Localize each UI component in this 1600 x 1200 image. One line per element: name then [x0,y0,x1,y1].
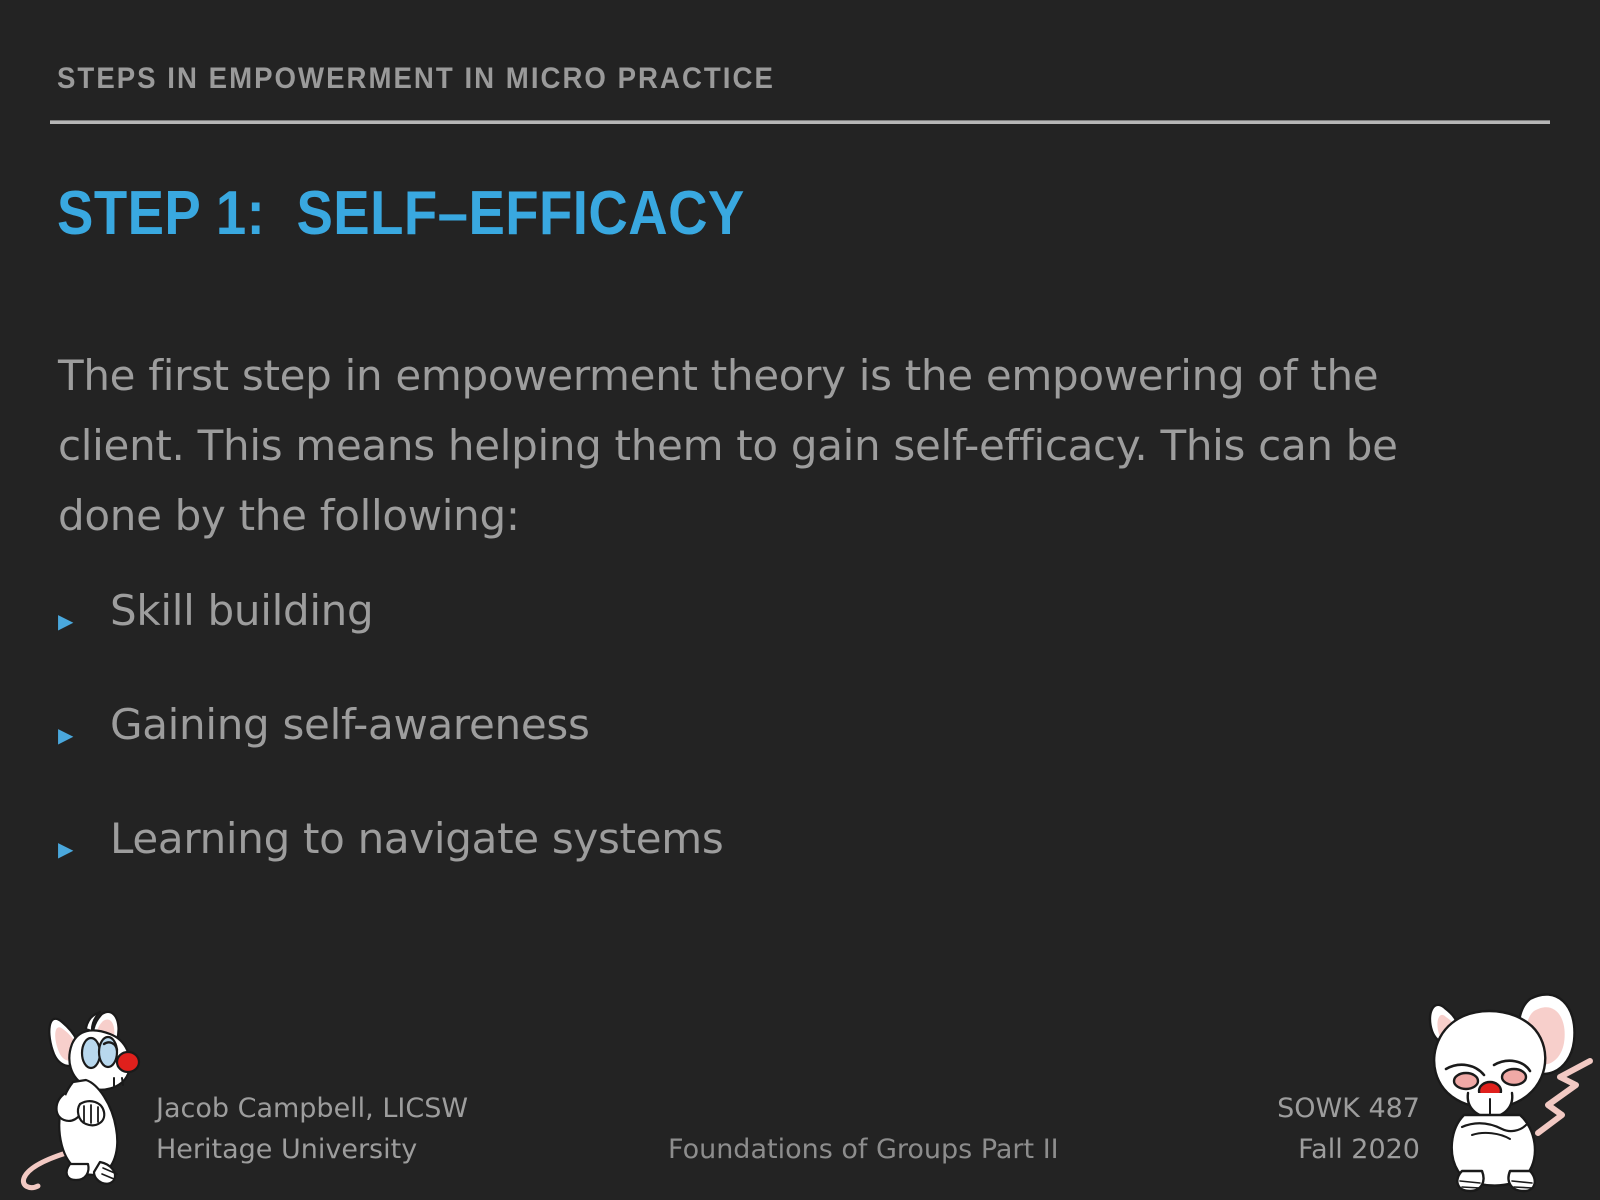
list-item-label: Learning to navigate systems [110,818,723,860]
footer-course-term: SOWK 487 Fall 2020 [1277,1088,1420,1170]
list-item: ▶ Gaining self-awareness [58,704,1458,818]
page-title: STEP 1: SELF–EFFICACY [57,183,745,245]
footer-author: Jacob Campbell, LICSW Heritage Universit… [156,1088,468,1170]
footer-course-topic: Foundations of Groups Part II [668,1129,1059,1170]
bullet-list: ▶ Skill building ▶ Gaining self-awarenes… [58,590,1458,932]
triangle-bullet-icon: ▶ [58,704,110,746]
list-item-label: Skill building [110,590,373,632]
header-divider [50,120,1550,124]
brain-mouse-icon [1410,965,1600,1200]
pinky-mouse-icon [18,978,163,1193]
body-paragraph: The first step in empowerment theory is … [58,341,1498,551]
list-item: ▶ Skill building [58,590,1458,704]
triangle-bullet-icon: ▶ [58,590,110,632]
list-item-label: Gaining self-awareness [110,704,590,746]
triangle-bullet-icon: ▶ [58,818,110,860]
slide-header-title: STEPS IN EMPOWERMENT IN MICRO PRACTICE [57,62,775,96]
presentation-slide: STEPS IN EMPOWERMENT IN MICRO PRACTICE S… [0,0,1600,1200]
list-item: ▶ Learning to navigate systems [58,818,1458,932]
